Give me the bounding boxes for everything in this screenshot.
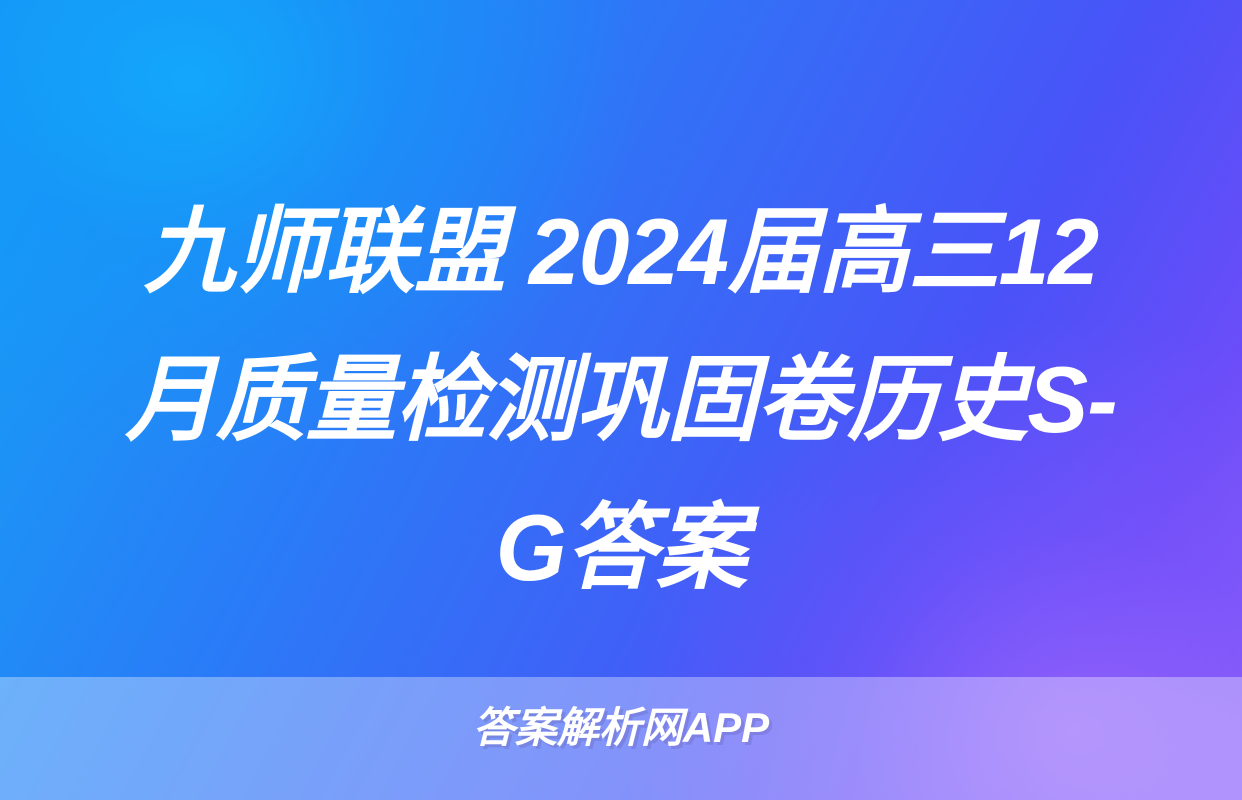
watermark: 答案解析网APP: [0, 702, 1242, 754]
page-title: 九师联盟 2024届高三12 月质量检测巩固卷历史S- G答案: [0, 178, 1242, 622]
title-line-3: G答案: [94, 474, 1147, 622]
title-line-1: 九师联盟 2024届高三12: [94, 178, 1147, 326]
poster-canvas: 九师联盟 2024届高三12 月质量检测巩固卷历史S- G答案 答案解析网APP: [0, 0, 1242, 800]
watermark-label: 答案解析网APP: [473, 702, 769, 754]
title-line-2: 月质量检测巩固卷历史S-: [94, 326, 1147, 474]
